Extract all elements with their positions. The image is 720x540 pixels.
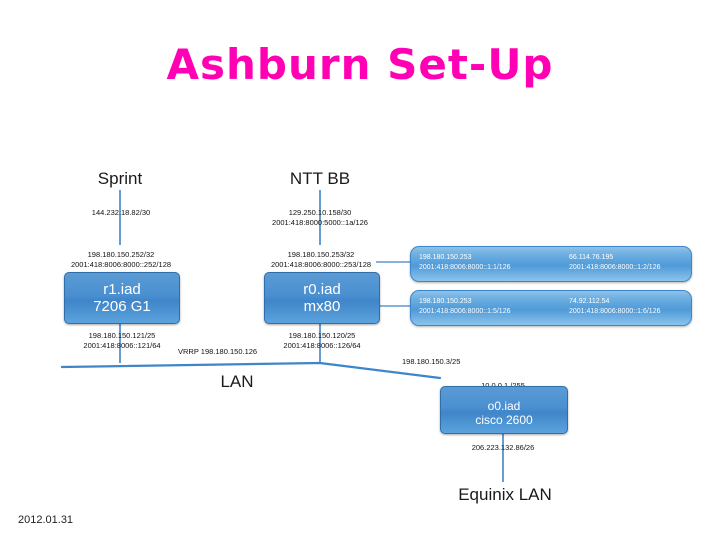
r0-lan-address-v4: 198.180.150.120/25 (252, 331, 392, 340)
router-o0-iad[interactable]: o0.iad cisco 2600 (440, 386, 568, 434)
ntt-uplink-address-v6: 2001:418:8000:5000::1a/126 (248, 218, 392, 227)
peer1-local-v6: 2001:418:8006:8000::1:1/126 (419, 263, 510, 272)
page-title: Ashburn Set-Up (0, 40, 720, 89)
peer2-local-v6: 2001:418:8006:8000::1:5/126 (419, 307, 510, 316)
o0-bottom-address: 206.223.132.86/26 (443, 443, 563, 452)
router-r1-iad[interactable]: r1.iad 7206 G1 (64, 272, 180, 324)
r1-loopback-v6: 2001:418:8006:8000::252/128 (50, 260, 192, 269)
router-r1-model: 7206 G1 (93, 298, 151, 315)
r1-lan-address-v6: 2001:418:8006::121/64 (52, 341, 192, 350)
sprint-uplink-address: 144.232.18.82/30 (60, 208, 182, 217)
r0-loopback-v6: 2001:418:8006:8000::253/128 (250, 260, 392, 269)
label-equinix-lan: Equinix LAN (430, 485, 580, 505)
r0-loopback-v4: 198.180.150.253/32 (250, 250, 392, 259)
router-o0-model: cisco 2600 (475, 414, 532, 428)
ntt-uplink-address-v4: 129.250.10.158/30 (248, 208, 392, 217)
label-sprint: Sprint (60, 169, 180, 189)
peer2-remote-v6: 2001:418:8006:8000::1:6/126 (569, 307, 660, 316)
peering-link-2[interactable]: 198.180.150.253 2001:418:8006:8000::1:5/… (410, 290, 692, 326)
slide-canvas: Ashburn Set-Up Sprint NTT BB 144.232.18.… (0, 0, 720, 540)
lan-to-o0-address: 198.180.150.3/25 (402, 357, 512, 366)
peer2-remote-v4: 74.92.112.54 (569, 297, 609, 306)
router-r0-name: r0.iad (303, 281, 341, 298)
label-lan: LAN (182, 372, 292, 392)
router-o0-name: o0.iad (488, 400, 521, 414)
r1-lan-address-v4: 198.180.150.121/25 (52, 331, 192, 340)
slide-date: 2012.01.31 (18, 514, 73, 526)
peering-link-1[interactable]: 198.180.150.253 2001:418:8006:8000::1:1/… (410, 246, 692, 282)
peer2-local-v4: 198.180.150.253 (419, 297, 472, 306)
peer1-local-v4: 198.180.150.253 (419, 253, 472, 262)
vrrp-label: VRRP 198.180.150.126 (178, 347, 308, 356)
peer1-remote-v6: 2001:418:8006:8000::1:2/126 (569, 263, 660, 272)
router-r0-model: mx80 (304, 298, 341, 315)
router-r0-iad[interactable]: r0.iad mx80 (264, 272, 380, 324)
peer1-remote-v4: 66.114.76.195 (569, 253, 613, 262)
router-r1-name: r1.iad (103, 281, 141, 298)
r1-loopback-v4: 198.180.150.252/32 (50, 250, 192, 259)
label-ntt-bb: NTT BB (258, 169, 382, 189)
